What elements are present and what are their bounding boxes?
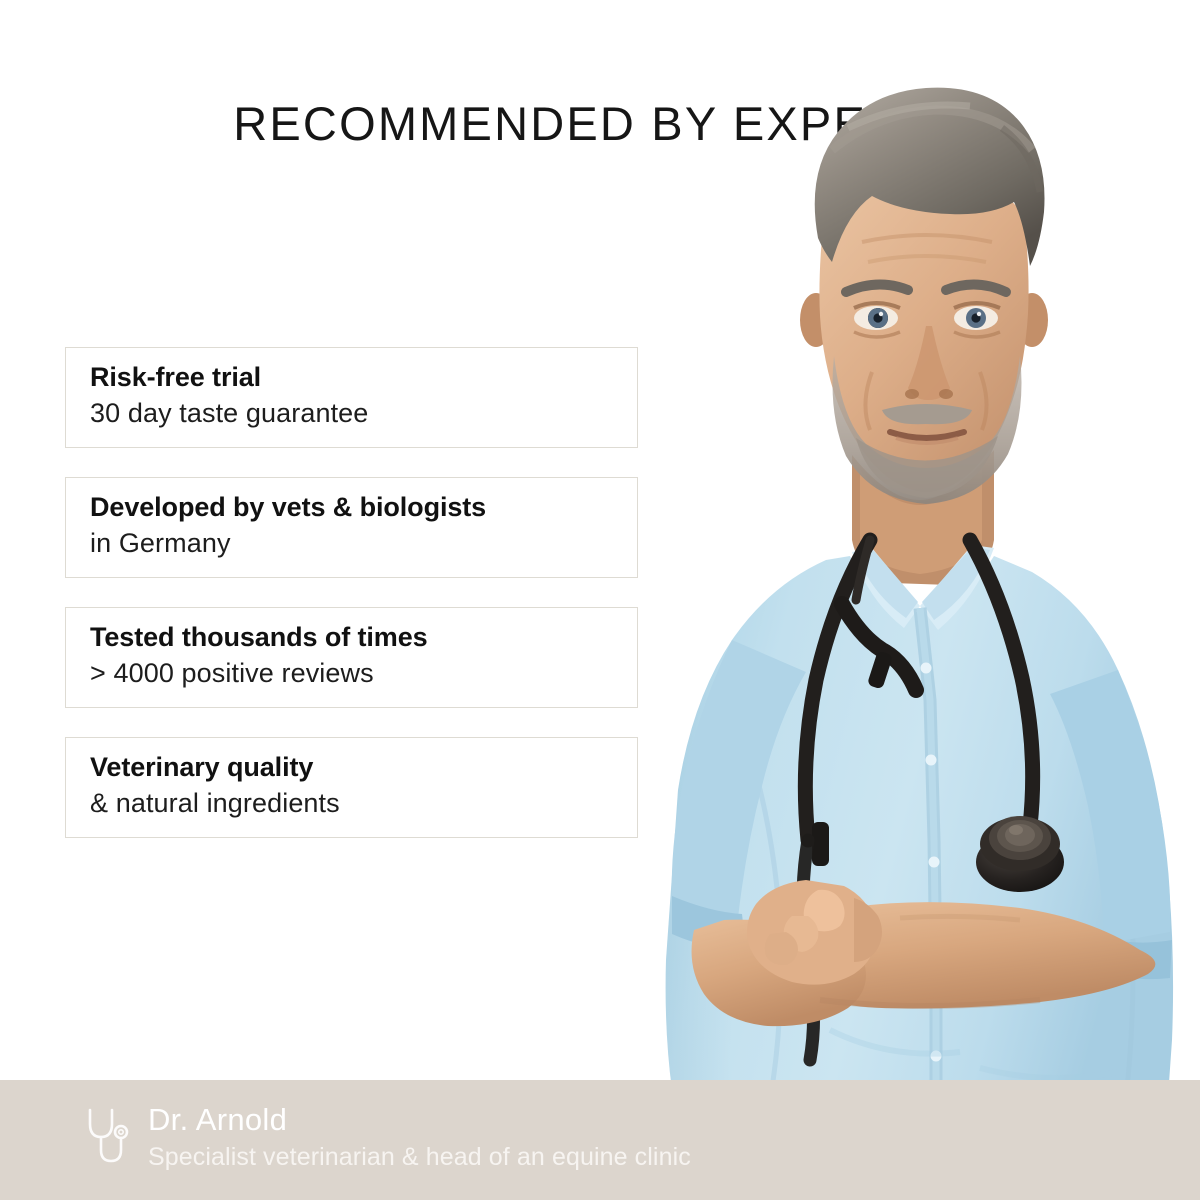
veterinarian-photo <box>620 0 1200 1200</box>
feature-item-risk-free-trial[interactable]: Risk-free trial 30 day taste guarantee <box>65 347 638 448</box>
feature-item-veterinary-quality[interactable]: Veterinary quality & natural ingredients <box>65 737 638 838</box>
feature-title: Risk-free trial <box>90 362 637 392</box>
feature-subtitle: 30 day taste guarantee <box>90 396 637 431</box>
veterinarian-illustration <box>620 0 1200 1200</box>
promo-banner: RECOMMENDED BY EXPERTS <box>0 0 1200 1200</box>
feature-item-tested-thousands-of-times[interactable]: Tested thousands of times > 4000 positiv… <box>65 607 638 708</box>
stethoscope-icon <box>82 1104 130 1170</box>
expert-name: Dr. Arnold <box>148 1102 691 1138</box>
caption-content: Dr. Arnold Specialist veterinarian & hea… <box>82 1098 691 1173</box>
caption-bar: Dr. Arnold Specialist veterinarian & hea… <box>0 1080 1200 1200</box>
feature-title: Tested thousands of times <box>90 622 637 652</box>
feature-subtitle: & natural ingredients <box>90 786 637 821</box>
feature-title: Veterinary quality <box>90 752 637 782</box>
expert-role: Specialist veterinarian & head of an equ… <box>148 1142 691 1173</box>
feature-item-developed-by-vets[interactable]: Developed by vets & biologists in German… <box>65 477 638 578</box>
feature-list: Risk-free trial 30 day taste guarantee D… <box>65 347 638 867</box>
feature-title: Developed by vets & biologists <box>90 492 637 522</box>
feature-subtitle: > 4000 positive reviews <box>90 656 637 691</box>
head <box>800 88 1048 504</box>
feature-subtitle: in Germany <box>90 526 637 561</box>
caption-text-group: Dr. Arnold Specialist veterinarian & hea… <box>148 1098 691 1173</box>
